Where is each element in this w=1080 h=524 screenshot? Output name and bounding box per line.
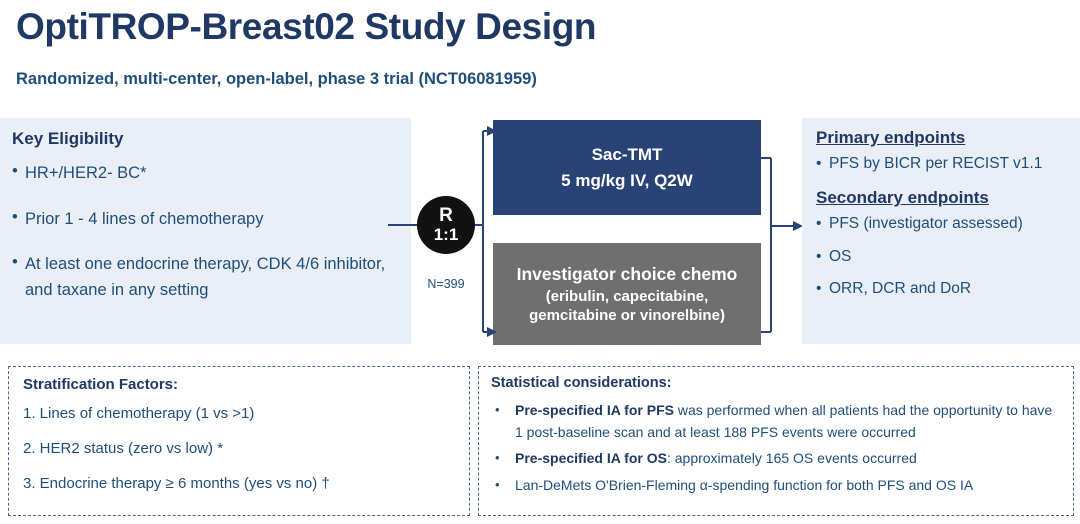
bullet-icon: • (816, 154, 829, 173)
randomization-ratio: 1:1 (434, 226, 459, 244)
list-item: 3. Endocrine therapy ≥ 6 months (yes vs … (23, 475, 453, 492)
eligibility-item-text: At least one endocrine therapy, CDK 4/6 … (25, 252, 404, 303)
list-item: •Lan-DeMets O'Brien-Fleming α-spending f… (491, 475, 1063, 497)
list-item: • Prior 1 - 4 lines of chemotherapy (12, 207, 404, 233)
list-item: • ORR, DCR and DoR (816, 279, 1074, 298)
control-arm-detail-line2: gemcitabine or vinorelbine) (529, 307, 725, 324)
statistical-considerations-box: Statistical considerations: •Pre-specifi… (478, 366, 1074, 516)
key-eligibility-heading: Key Eligibility (12, 129, 123, 149)
control-arm-detail-line1: (eribulin, capecitabine, (546, 288, 709, 305)
secondary-endpoint-text: ORR, DCR and DoR (829, 279, 1074, 298)
control-arm-box: Investigator choice chemo (eribulin, cap… (493, 243, 761, 345)
stratification-factors-box: Stratification Factors: 1. Lines of chem… (8, 366, 470, 516)
statistics-list: •Pre-specified IA for PFS was performed … (491, 400, 1063, 502)
bullet-icon: • (816, 247, 829, 266)
statistics-item-text: Pre-specified IA for OS: approximately 1… (515, 448, 1063, 470)
list-item: •Pre-specified IA for OS: approximately … (491, 448, 1063, 470)
page-title: OptiTROP-Breast02 Study Design (16, 6, 596, 48)
list-item: • PFS (investigator assessed) (816, 214, 1074, 233)
secondary-endpoint-text: OS (829, 247, 1074, 266)
experimental-arm-dose: 5 mg/kg IV, Q2W (561, 171, 693, 191)
secondary-endpoints-heading: Secondary endpoints (816, 188, 1074, 208)
experimental-arm-name: Sac-TMT (592, 145, 663, 165)
primary-endpoints-heading: Primary endpoints (816, 128, 1074, 148)
stratification-list: 1. Lines of chemotherapy (1 vs >1) 2. HE… (23, 405, 453, 510)
list-item: 1. Lines of chemotherapy (1 vs >1) (23, 405, 453, 422)
primary-endpoint-text: PFS by BICR per RECIST v1.1 (829, 154, 1074, 173)
eligibility-item-text: HR+/HER2- BC* (25, 161, 404, 187)
experimental-arm-box: Sac-TMT 5 mg/kg IV, Q2W (493, 120, 761, 215)
stratification-heading: Stratification Factors: (23, 376, 178, 393)
list-item: • At least one endocrine therapy, CDK 4/… (12, 252, 404, 303)
bullet-icon: • (12, 161, 25, 182)
bullet-icon: • (491, 448, 515, 469)
statistics-item-text: Lan-DeMets O'Brien-Fleming α-spending fu… (515, 475, 1063, 497)
bullet-icon: • (816, 279, 829, 298)
bullet-icon: • (12, 252, 25, 273)
bullet-icon: • (491, 400, 515, 421)
control-arm-name: Investigator choice chemo (517, 264, 738, 285)
list-item: • HR+/HER2- BC* (12, 161, 404, 187)
statistics-item-emphasis: Pre-specified IA for PFS (515, 402, 674, 418)
study-design-slide: OptiTROP-Breast02 Study Design Randomize… (0, 0, 1080, 524)
list-item: 2. HER2 status (zero vs low) * (23, 440, 453, 457)
bullet-icon: • (12, 207, 25, 228)
statistics-item-emphasis: Pre-specified IA for OS (515, 450, 667, 466)
list-item: • PFS by BICR per RECIST v1.1 (816, 154, 1074, 173)
randomization-node: R 1:1 (417, 196, 475, 254)
statistics-item-text: Pre-specified IA for PFS was performed w… (515, 400, 1063, 443)
randomization-label: R (439, 206, 453, 226)
bullet-icon: • (491, 475, 515, 496)
page-subtitle: Randomized, multi-center, open-label, ph… (16, 70, 537, 89)
enrollment-count: N=399 (417, 277, 475, 291)
bullet-icon: • (816, 214, 829, 233)
list-item: •Pre-specified IA for PFS was performed … (491, 400, 1063, 443)
endpoints-panel: Primary endpoints • PFS by BICR per RECI… (802, 118, 1080, 344)
list-item: • OS (816, 247, 1074, 266)
statistics-heading: Statistical considerations: (491, 375, 672, 391)
key-eligibility-panel: Key Eligibility • HR+/HER2- BC* • Prior … (0, 118, 411, 344)
secondary-endpoint-text: PFS (investigator assessed) (829, 214, 1074, 233)
eligibility-item-text: Prior 1 - 4 lines of chemotherapy (25, 207, 404, 233)
key-eligibility-list: • HR+/HER2- BC* • Prior 1 - 4 lines of c… (12, 161, 404, 323)
